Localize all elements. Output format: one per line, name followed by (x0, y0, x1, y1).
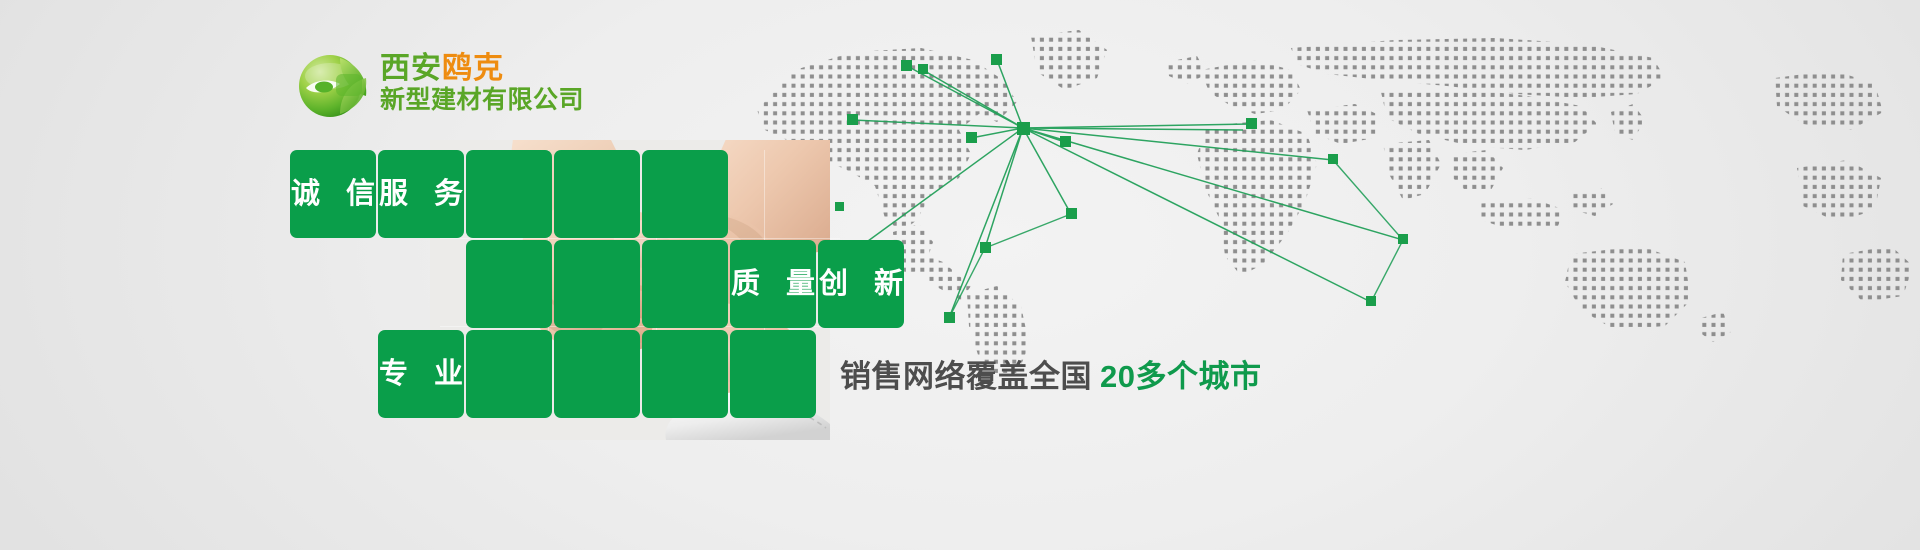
tile-integrity[interactable]: 诚 信 (290, 150, 376, 238)
map-dot-layer (735, 18, 1920, 378)
tile-innovation-label: 创 新 (810, 270, 912, 299)
logo-text-block: 西安鸥克 新型建材有限公司 (380, 53, 584, 116)
tile-innovation[interactable]: 创 新 (818, 240, 904, 328)
tile-blank-r2c3[interactable] (466, 240, 552, 328)
tagline-main-text: 销售网络覆盖全国 (840, 359, 1092, 394)
tile-blank-r3c6[interactable] (730, 330, 816, 418)
tile-service-label: 服 务 (370, 180, 472, 209)
tile-integrity-label: 诚 信 (282, 180, 384, 209)
tile-professional-label: 专 业 (370, 360, 472, 389)
world-map (735, 18, 1920, 378)
tagline-accent-text: 20多个城市 (1092, 359, 1261, 394)
map-hub-node (1017, 122, 1030, 135)
logo-city-name: 西安 (380, 52, 442, 85)
sales-network-tagline: 销售网络覆盖全国20多个城市 (840, 358, 1261, 395)
tile-blank-r1c3[interactable] (466, 150, 552, 238)
world-map-svg (735, 18, 1920, 378)
banner-stage: 诚 信 服 务 质 量 创 新 专 业 (0, 0, 1920, 550)
tile-blank-r3c4[interactable] (554, 330, 640, 418)
tile-blank-r3c3[interactable] (466, 330, 552, 418)
company-logo[interactable]: 西安鸥克 新型建材有限公司 (296, 44, 596, 126)
logo-line-1: 西安鸥克 (380, 53, 584, 85)
tile-blank-r1c4[interactable] (554, 150, 640, 238)
value-tile-grid: 诚 信 服 务 质 量 创 新 专 业 (290, 150, 902, 416)
tile-service[interactable]: 服 务 (378, 150, 464, 238)
tile-professional[interactable]: 专 业 (378, 330, 464, 418)
tile-blank-r2c5[interactable] (642, 240, 728, 328)
globe-leaf-logo-icon (296, 48, 370, 122)
tile-blank-r1c5[interactable] (642, 150, 728, 238)
tile-blank-r3c5[interactable] (642, 330, 728, 418)
tile-blank-r2c4[interactable] (554, 240, 640, 328)
tile-quality[interactable]: 质 量 (730, 240, 816, 328)
logo-brand-name: 鸥克 (442, 52, 504, 85)
tile-quality-label: 质 量 (722, 270, 824, 299)
logo-line-2: 新型建材有限公司 (380, 87, 584, 115)
